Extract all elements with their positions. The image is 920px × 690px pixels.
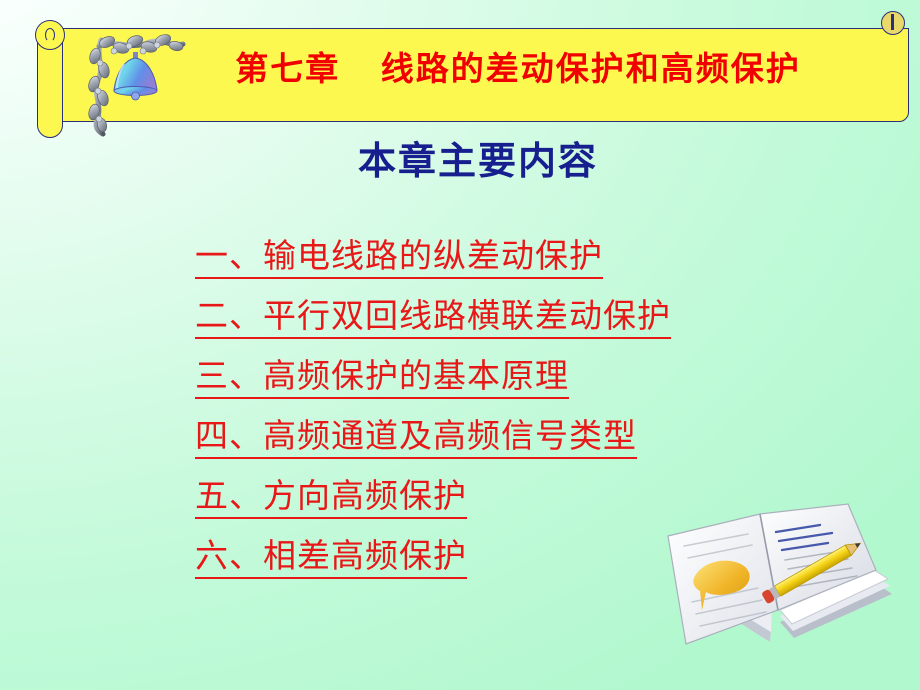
scroll-left-curl-icon <box>35 20 65 50</box>
outline-item-1[interactable]: 一、输电线路的纵差动保护 <box>132 206 832 266</box>
outline-item-5-label: 五、方向高频保护 <box>195 479 467 519</box>
outline-item-1-label: 一、输电线路的纵差动保护 <box>195 239 603 279</box>
banner-title-text: 第七章 线路的差动保护和高频保护 <box>153 52 883 85</box>
outline-item-4-label: 四、高频通道及高频信号类型 <box>195 419 637 459</box>
title-banner: 第七章 线路的差动保护和高频保护 <box>33 8 905 136</box>
outline-item-6-label: 六、相差高频保护 <box>195 539 467 579</box>
content-heading: 本章主要内容 <box>0 140 920 184</box>
outline-item-2-label: 二、平行双回线路横联差动保护 <box>195 299 671 339</box>
outline-item-3-label: 三、高频保护的基本原理 <box>195 359 569 399</box>
presentation-slide: 第七章 线路的差动保护和高频保护 本章主要内容 一、输电线路的纵差动保护 二、平… <box>0 0 920 690</box>
open-book-with-pencil-icon <box>652 492 902 677</box>
scroll-right-curl-icon <box>881 11 905 35</box>
